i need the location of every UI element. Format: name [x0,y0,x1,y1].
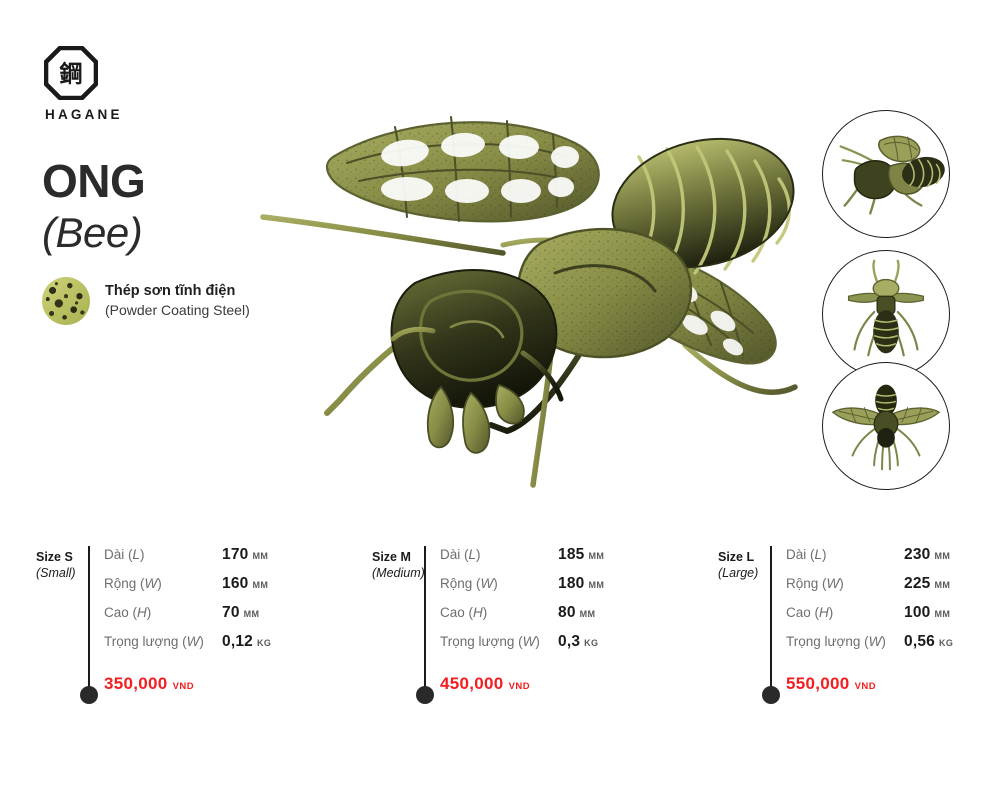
spec-unit: mm [934,580,950,590]
brand-wordmark: HAGANE [45,107,234,122]
spec-value: 0,56 [904,633,935,651]
spec-rows: Dài (L) 230 mm Rộng (W) 225 mm Cao (H) 1… [786,546,1000,662]
spec-value: 0,3 [558,633,580,651]
spec-value: 80 [558,604,576,622]
wing-upper-left [327,117,599,221]
spec-unit: mm [244,609,260,619]
spec-unit: kg [584,638,598,648]
spec-key: Trọng lượng (W) [440,634,558,649]
spec-value: 225 [904,575,930,593]
material-block: Thép sơn tĩnh điện (Powder Coating Steel… [42,277,250,325]
price-row: 550,000 VND [786,674,876,694]
spec-unit: kg [939,638,953,648]
bee-thumb-top-icon [823,363,949,489]
bee-thumb-front-icon [823,251,949,377]
price-amount: 450,000 [440,674,504,694]
size-axis-line [424,546,426,691]
price-currency: VND [173,681,195,692]
spec-value: 185 [558,546,584,564]
spec-key: Rộng (W) [786,576,904,591]
product-name-translation: (Bee) [42,208,145,258]
bee-thumb-side-icon [823,111,949,237]
size-column-l: Size L (Large) Dài (L) 230 mm Rộng (W) 2… [718,546,1000,716]
spec-unit: mm [588,580,604,590]
size-axis-dot [80,686,98,704]
material-swatch-olive-speckled [42,277,90,325]
price-row: 450,000 VND [440,674,530,694]
size-column-s: Size S (Small) Dài (L) 170 mm Rộng (W) 1… [36,546,346,716]
price-currency: VND [509,681,531,692]
spec-unit: mm [934,551,950,561]
spec-unit: mm [934,609,950,619]
material-text: Thép sơn tĩnh điện (Powder Coating Steel… [105,283,250,319]
material-label-vi: Thép sơn tĩnh điện [105,283,250,301]
spec-key: Rộng (W) [440,576,558,591]
size-axis-dot [762,686,780,704]
brand-block: 鋼 HAGANE [44,46,234,122]
table-row: Cao (H) 80 mm [440,604,682,633]
spec-key: Cao (H) [104,605,222,620]
spec-value: 230 [904,546,930,564]
table-row: Cao (H) 70 mm [104,604,346,633]
bee-thumbnail-front-view[interactable] [822,250,950,378]
bee-hero-illustration [255,95,825,505]
price-currency: VND [855,681,877,692]
spec-key: Dài (L) [440,547,558,562]
table-row: Rộng (W) 160 mm [104,575,346,604]
material-label-en: (Powder Coating Steel) [105,302,250,319]
spec-key: Trọng lượng (W) [104,634,222,649]
spec-value: 70 [222,604,240,622]
brand-kanji: 鋼 [59,61,83,88]
spec-key: Trọng lượng (W) [786,634,904,649]
price-row: 350,000 VND [104,674,194,694]
spec-value: 100 [904,604,930,622]
size-axis-line [88,546,90,691]
table-row: Dài (L) 185 mm [440,546,682,575]
table-row: Rộng (W) 180 mm [440,575,682,604]
table-row: Dài (L) 170 mm [104,546,346,575]
price-amount: 350,000 [104,674,168,694]
spec-key: Rộng (W) [104,576,222,591]
spec-unit: mm [588,551,604,561]
table-row: Trọng lượng (W) 0,3 kg [440,633,682,662]
spec-key: Dài (L) [786,547,904,562]
spec-key: Cao (H) [440,605,558,620]
spec-value: 0,12 [222,633,253,651]
table-row: Cao (H) 100 mm [786,604,1000,633]
spec-unit: mm [580,609,596,619]
table-row: Trọng lượng (W) 0,12 kg [104,633,346,662]
spec-value: 160 [222,575,248,593]
hagane-octagon-kanji-logo: 鋼 [44,46,98,100]
table-row: Rộng (W) 225 mm [786,575,1000,604]
product-name: ONG [42,158,145,204]
bee-thumbnail-top-view[interactable] [822,362,950,490]
thumb-abdomen-front [873,310,899,353]
spec-unit: mm [252,580,268,590]
spec-value: 170 [222,546,248,564]
spec-unit: mm [252,551,268,561]
bee-head [392,270,557,408]
table-row: Trọng lượng (W) 0,56 kg [786,633,1000,662]
bee-sculpture-hero-photo [255,95,825,505]
size-column-m: Size M (Medium) Dài (L) 185 mm Rộng (W) … [372,546,682,716]
table-row: Dài (L) 230 mm [786,546,1000,575]
bee-thumbnail-side-view[interactable] [822,110,950,238]
spec-rows: Dài (L) 170 mm Rộng (W) 160 mm Cao (H) 7… [104,546,346,662]
price-amount: 550,000 [786,674,850,694]
spec-unit: kg [257,638,271,648]
size-axis-line [770,546,772,691]
size-axis-dot [416,686,434,704]
page-title: ONG (Bee) [42,158,145,258]
spec-rows: Dài (L) 185 mm Rộng (W) 180 mm Cao (H) 8… [440,546,682,662]
spec-value: 180 [558,575,584,593]
spec-key: Dài (L) [104,547,222,562]
spec-key: Cao (H) [786,605,904,620]
